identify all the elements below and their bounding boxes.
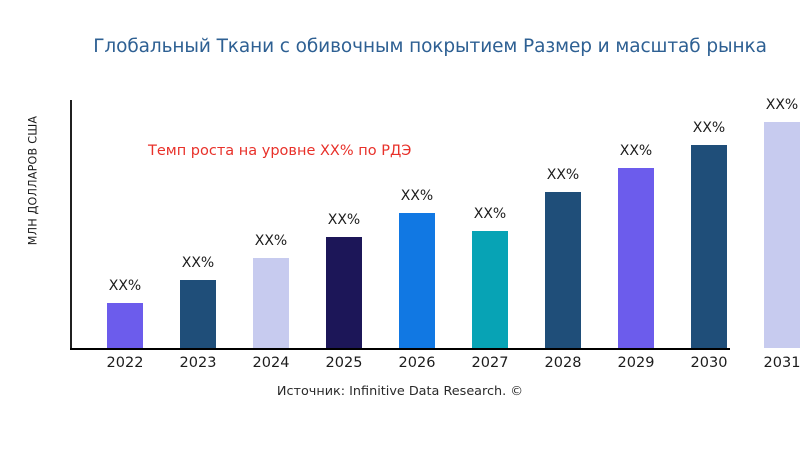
bar-value-label-2024: XX%	[231, 233, 311, 249]
bar-value-label-2028: XX%	[523, 167, 603, 183]
x-axis-tick-2022: 2022	[85, 355, 165, 371]
bar-value-label-2030: XX%	[669, 120, 749, 136]
bar-2024[interactable]	[253, 258, 289, 348]
x-axis-tick-2029: 2029	[596, 355, 676, 371]
bar-2025[interactable]	[326, 237, 362, 348]
bar-2031[interactable]	[764, 122, 800, 348]
bar-2023[interactable]	[180, 280, 216, 348]
x-axis-tick-2028: 2028	[523, 355, 603, 371]
chart-container: Глобальный Ткани с обивочным покрытием Р…	[0, 0, 800, 450]
bar-2022[interactable]	[107, 303, 143, 348]
bar-2029[interactable]	[618, 168, 654, 348]
bar-value-label-2023: XX%	[158, 255, 238, 271]
x-axis-tick-2027: 2027	[450, 355, 530, 371]
bar-value-label-2025: XX%	[304, 212, 384, 228]
growth-rate-annotation: Темп роста на уровне XX% по РДЭ	[148, 143, 411, 159]
x-axis-tick-2023: 2023	[158, 355, 238, 371]
x-axis-tick-2025: 2025	[304, 355, 384, 371]
bar-value-label-2029: XX%	[596, 143, 676, 159]
bar-2027[interactable]	[472, 231, 508, 348]
bar-2030[interactable]	[691, 145, 727, 348]
source-caption: Источник: Infinitive Data Research. ©	[70, 384, 730, 399]
x-axis-tick-2031: 2031	[742, 355, 800, 371]
bar-value-label-2031: XX%	[742, 97, 800, 113]
x-axis-tick-2024: 2024	[231, 355, 311, 371]
bar-value-label-2022: XX%	[85, 278, 165, 294]
x-axis-tick-2030: 2030	[669, 355, 749, 371]
bar-value-label-2027: XX%	[450, 206, 530, 222]
bar-2026[interactable]	[399, 213, 435, 348]
x-axis-tick-2026: 2026	[377, 355, 457, 371]
bar-2028[interactable]	[545, 192, 581, 348]
bar-value-label-2026: XX%	[377, 188, 457, 204]
plot-area: XX%2022XX%2023XX%2024XX%2025XX%2026XX%20…	[0, 0, 800, 450]
